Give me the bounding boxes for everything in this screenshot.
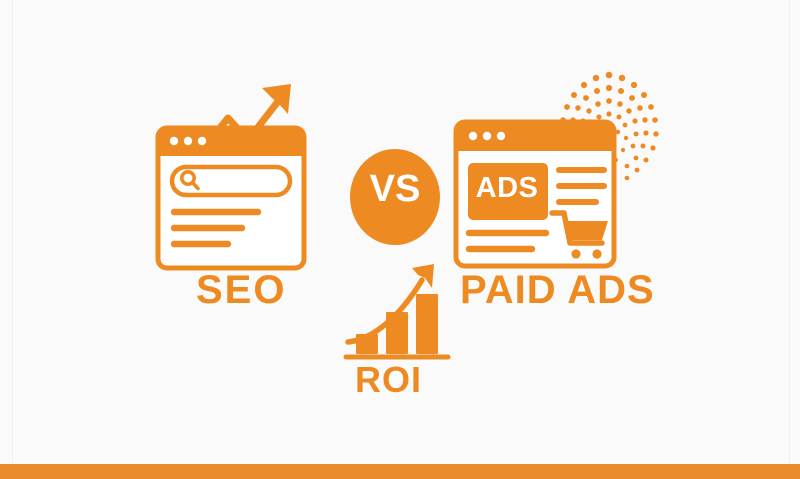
browser-dot-icon [497,132,505,140]
bottom-accent-bar [0,464,800,479]
paid-ads-caption: PAID ADS [460,270,655,310]
right-edge-rule [789,0,790,465]
browser-dot-icon [469,132,477,140]
rising-arrow-curve [348,280,422,342]
left-edge-rule [12,0,13,465]
browser-dot-icon [483,132,491,140]
browser-dot-icon [170,137,178,145]
illustration-canvas: SEO VS [0,0,800,479]
roi-caption: ROI [355,362,422,398]
browser-dot-icon [184,137,192,145]
browser-dot-icon [198,137,206,145]
bar [356,334,378,354]
bar [386,312,408,354]
ads-banner-label: ADS [468,172,546,205]
browser-titlebar [456,122,614,151]
roi-bar-chart [340,258,460,368]
bar [416,294,438,354]
rising-arrow-head [412,264,434,288]
growth-arrow-head [262,84,291,114]
vs-label: VS [355,168,435,211]
browser-titlebar [158,128,304,156]
seo-illustration [150,70,320,280]
seo-caption: SEO [196,270,286,310]
